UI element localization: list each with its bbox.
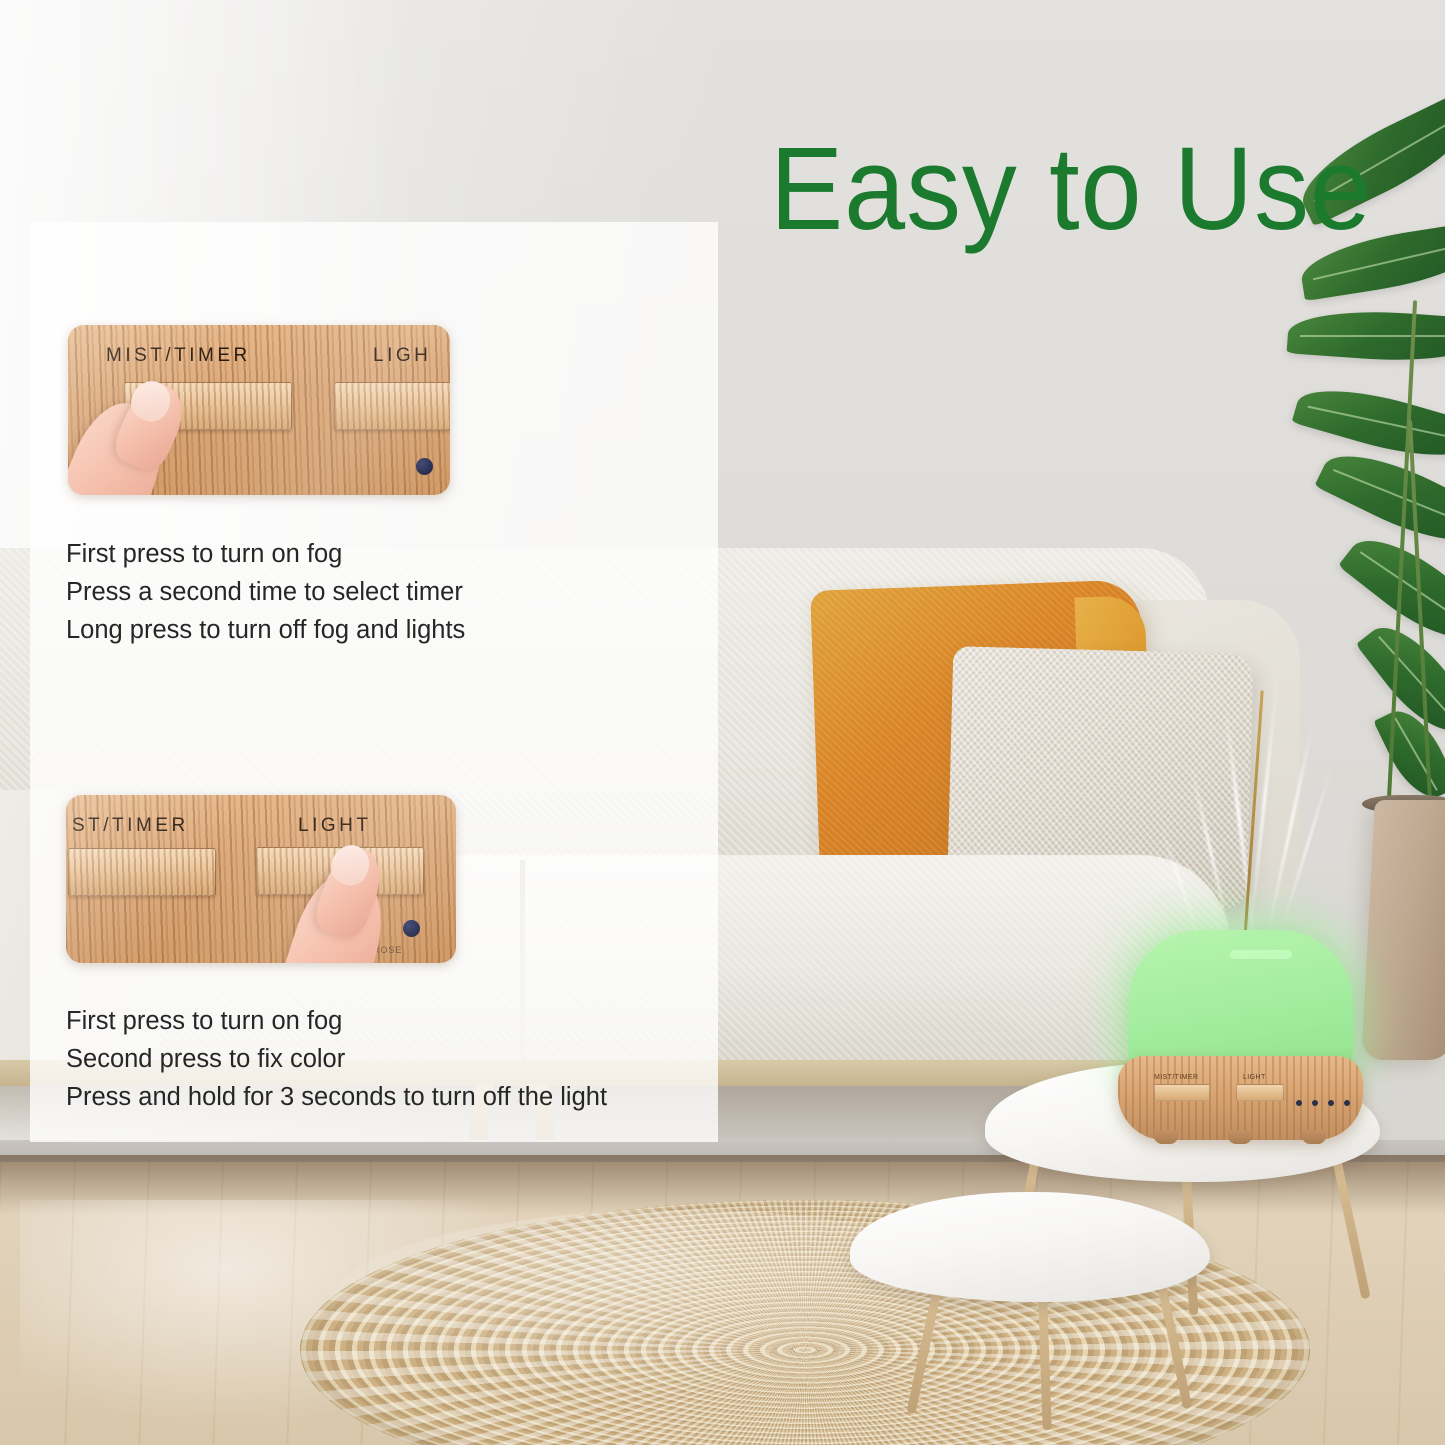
diffuser-foot (1228, 1130, 1252, 1144)
diffuser-light-label: LIGHT (1243, 1074, 1266, 1081)
panel1-light-label: LIGH (373, 345, 431, 367)
diffuser-led-4 (1344, 1100, 1350, 1106)
diffuser-mist-label: MIST/TIMER (1154, 1074, 1198, 1081)
diffuser-led-1 (1296, 1100, 1302, 1106)
taupe-ceramic-planter (1361, 800, 1445, 1060)
diffuser-mist-button[interactable] (1154, 1084, 1210, 1101)
panel1-light-button[interactable] (334, 382, 450, 430)
aroma-diffuser: MIST/TIMER LIGHT (1118, 930, 1363, 1150)
instruction-line: First press to turn on fog (66, 1002, 607, 1040)
instruction-line: Press a second time to select timer (66, 573, 465, 611)
instruction-line: Second press to fix color (66, 1040, 607, 1078)
panel1-mist-timer-label: MIST/TIMER (106, 345, 251, 367)
panel2-light-label: LIGHT (298, 815, 371, 837)
instructions-mist-timer: First press to turn on fog Press a secon… (66, 535, 465, 649)
instruction-line: Press and hold for 3 seconds to turn off… (66, 1078, 607, 1116)
page-title: Easy to Use (770, 130, 1347, 248)
panel2-mist-timer-button[interactable] (68, 848, 216, 896)
instructions-light: First press to turn on fog Second press … (66, 1002, 607, 1116)
panel2-led-indicator-2 (403, 920, 420, 937)
instruction-line: Long press to turn off fog and lights (66, 611, 465, 649)
diffuser-led-3 (1328, 1100, 1334, 1106)
panel1-led-indicator (416, 458, 433, 475)
control-panel-photo-mist-timer: MIST/TIMER LIGH (68, 325, 450, 495)
control-panel-photo-light: ST/TIMER LIGHT LIGHT ROSE (66, 795, 456, 963)
mist-outlet-slot (1230, 950, 1292, 959)
panel2-mist-timer-label: ST/TIMER (72, 815, 189, 837)
instruction-line: First press to turn on fog (66, 535, 465, 573)
diffuser-foot (1154, 1130, 1178, 1144)
diffuser-foot (1302, 1130, 1326, 1144)
diffuser-light-button[interactable] (1236, 1084, 1284, 1101)
diffuser-light-dome (1128, 930, 1353, 1075)
diffuser-wood-base: MIST/TIMER LIGHT (1118, 1056, 1363, 1140)
diffuser-led-2 (1312, 1100, 1318, 1106)
